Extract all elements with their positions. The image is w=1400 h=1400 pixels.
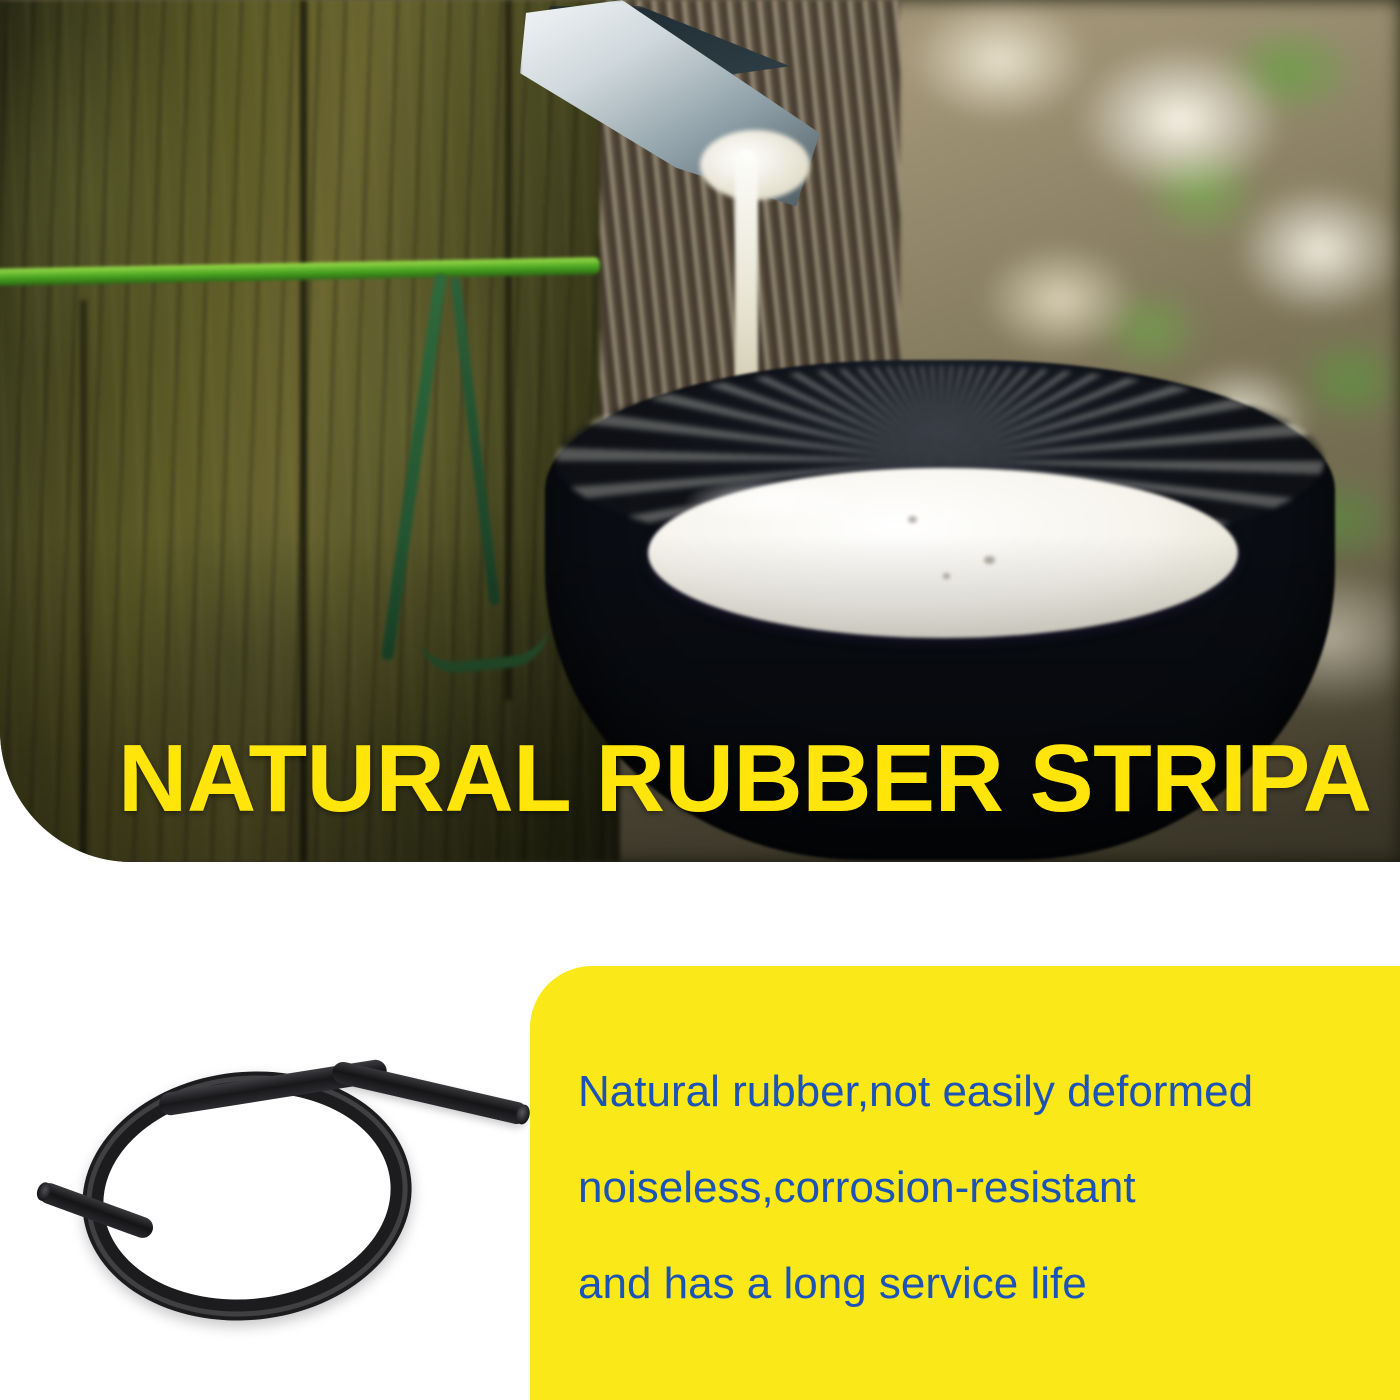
feature-line: and has a long service life <box>578 1262 1378 1306</box>
page-title: NATURAL RUBBER STRIPA <box>118 731 1371 827</box>
feature-line: Natural rubber,not easily deformed <box>578 1070 1378 1114</box>
product-image <box>30 1030 530 1330</box>
feature-line: noiseless,corrosion-resistant <box>578 1166 1378 1210</box>
feature-panel: Natural rubber,not easily deformed noise… <box>530 966 1400 1400</box>
feature-text-block: Natural rubber,not easily deformed noise… <box>578 1070 1378 1358</box>
product-marketing-page: NATURAL RUBBER STRIPA Natural rubber,not… <box>0 0 1400 1400</box>
hero-photo: NATURAL RUBBER STRIPA <box>0 0 1400 862</box>
